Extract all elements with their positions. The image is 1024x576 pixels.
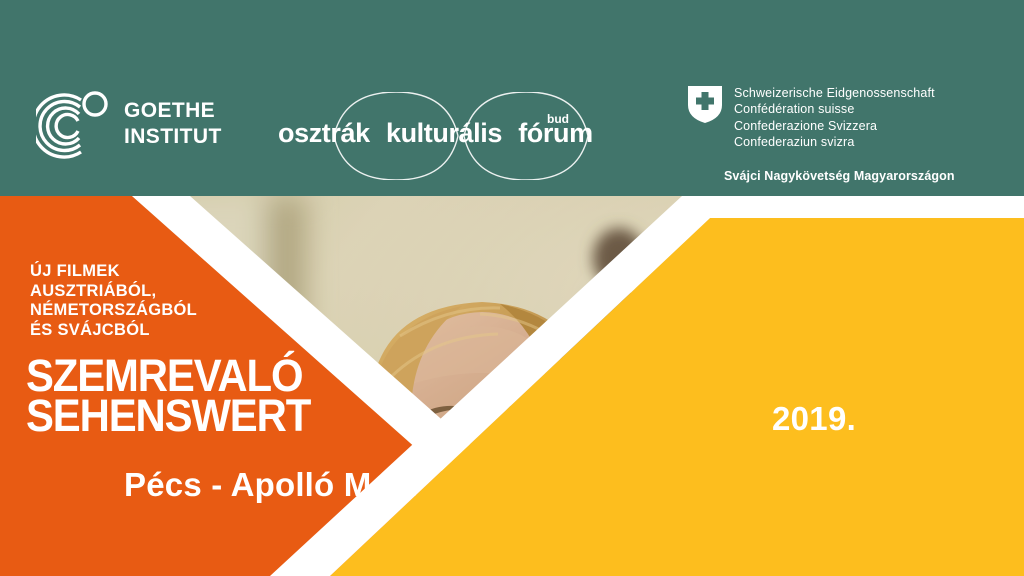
acf-word-2: kulturális: [386, 118, 502, 148]
kicker-line-1: ÚJ FILMEK: [30, 262, 197, 282]
austrian-cultural-forum-logo[interactable]: osztrák kulturális fórum bud: [268, 92, 598, 180]
goethe-spiral-icon: [36, 86, 114, 164]
acf-separator-1: [370, 118, 386, 148]
yellow-panel: [330, 218, 1024, 576]
goethe-institut-logo[interactable]: GOETHE INSTITUT: [36, 86, 236, 166]
swiss-name-de: Schweizerische Eidgenossenschaft: [734, 85, 935, 101]
kicker-line-4: ÉS SVÁJCBÓL: [30, 321, 197, 341]
austrian-forum-wordmark: osztrák kulturális fórum: [278, 118, 593, 149]
swiss-name-it: Confederazione Svizzera: [734, 118, 935, 134]
acf-word-1: osztrák: [278, 118, 370, 148]
swiss-embassy-label: Svájci Nagykövetség Magyarországon: [724, 169, 955, 183]
goethe-line-1: GOETHE: [124, 98, 222, 124]
kicker-line-3: NÉMETORSZÁGBÓL: [30, 301, 197, 321]
swiss-cross-shield-icon: [686, 84, 724, 124]
venue-label: Pécs - Apolló Mozi: [124, 466, 418, 504]
poster-root: GOETHE INSTITUT osztrák: [0, 0, 1024, 576]
swiss-confederation-logo[interactable]: Schweizerische Eidgenossenschaft Confédé…: [686, 84, 986, 184]
festival-title-de: SEHENSWERT: [26, 396, 310, 436]
goethe-line-2: INSTITUT: [124, 124, 222, 150]
goethe-wordmark: GOETHE INSTITUT: [124, 98, 222, 150]
swiss-name-rm: Confederaziun svizra: [734, 134, 935, 150]
swiss-name-fr: Confédération suisse: [734, 101, 935, 117]
year-label: 2019.: [772, 400, 856, 438]
swiss-confederation-names: Schweizerische Eidgenossenschaft Confédé…: [734, 85, 935, 151]
acf-superscript-bud: bud: [547, 112, 569, 126]
sponsor-header: GOETHE INSTITUT osztrák: [0, 0, 1024, 196]
festival-title: SZEMREVALÓ SEHENSWERT: [26, 356, 310, 436]
kicker-line-2: AUSZTRIÁBÓL,: [30, 282, 197, 302]
acf-separator-2: [502, 118, 518, 148]
kicker-text: ÚJ FILMEK AUSZTRIÁBÓL, NÉMETORSZÁGBÓL ÉS…: [30, 262, 197, 340]
